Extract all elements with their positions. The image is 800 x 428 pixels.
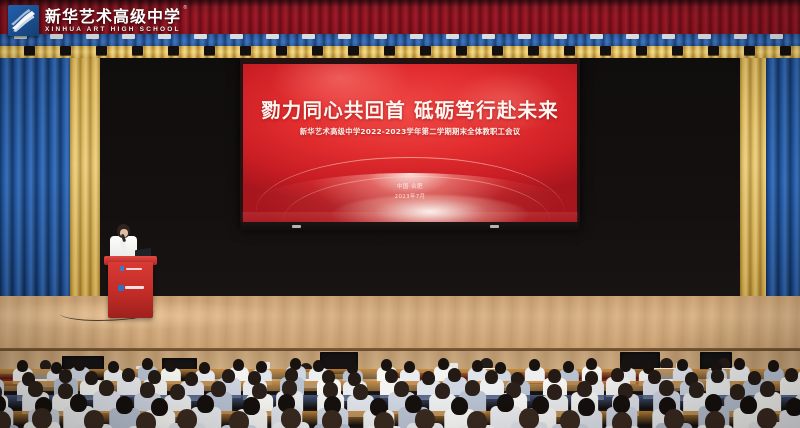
stage-light-fixture — [528, 46, 539, 55]
stage-light-fixture — [672, 46, 683, 55]
audience-member-head — [757, 408, 777, 428]
audience-member-head — [385, 369, 398, 383]
audience-member-head — [547, 384, 562, 400]
audience-member-head — [664, 409, 684, 428]
audience-member-head — [374, 412, 394, 428]
podium-logo-text-upper — [126, 268, 142, 270]
audience-member-head — [529, 359, 540, 371]
valance-light-reflector — [230, 34, 243, 39]
audience-member-head — [108, 361, 119, 373]
valance-light-reflector — [446, 34, 459, 39]
audience-member-head — [415, 409, 435, 428]
audience-member-head — [229, 411, 249, 428]
stage-light-fixture — [204, 46, 215, 55]
valance-light-reflector — [482, 34, 495, 39]
stage-light-fixture — [240, 46, 251, 55]
audience-member-head — [760, 381, 775, 397]
audience-member-head — [785, 368, 798, 382]
valance-light-reflector — [626, 34, 639, 39]
audience-member-head — [435, 383, 450, 399]
watermark-title-en: XINHUA ART HIGH SCHOOL — [45, 25, 181, 34]
valance-light-reflector — [698, 34, 711, 39]
audience-member-head — [151, 398, 168, 416]
audience-member-head — [28, 381, 43, 397]
stage-light-fixture — [384, 46, 395, 55]
audience-member-head — [613, 395, 630, 413]
stage-light-fixture — [492, 46, 503, 55]
audience-member-head — [197, 395, 214, 413]
auditorium-photo: 勠力同心共回首 砥砺笃行赴未来 新华艺术高级中学2022-2023学年第二学期期… — [0, 0, 800, 428]
audience-member-head — [586, 358, 597, 370]
curtain-left-gold — [70, 46, 100, 308]
audience-member-head — [256, 361, 267, 373]
audience-member-head — [32, 408, 52, 428]
audience-member-head — [648, 370, 661, 384]
audience-member-head — [233, 359, 244, 371]
podium-logo-mark-lower — [118, 285, 124, 291]
curtain-right-blue — [766, 46, 800, 314]
valance-light-reflector — [410, 34, 423, 39]
valance-light-reflector — [374, 34, 387, 39]
podium — [108, 262, 153, 318]
audience-member-head — [677, 359, 688, 371]
stage-light-fixture — [636, 46, 647, 55]
audience-member-head — [185, 372, 198, 386]
audience-member-head — [705, 394, 722, 412]
stage-light-fixture — [168, 46, 179, 55]
audience-member-head — [497, 394, 514, 412]
valance-light-reflector — [554, 34, 567, 39]
stage-light-fixture — [564, 46, 575, 55]
audience-member-head — [485, 370, 498, 384]
stage-light-fixture — [780, 46, 791, 55]
stage-light-fixture — [348, 46, 359, 55]
audience-member-head — [448, 368, 461, 382]
stage-light-fixture — [456, 46, 467, 55]
audience-member-head — [438, 358, 449, 370]
audience-member-head — [748, 371, 761, 385]
screen-date: 2023年7月 — [243, 192, 577, 200]
audience-member-head — [177, 409, 197, 428]
valance-light-reflector — [518, 34, 531, 39]
audience-member-head — [122, 368, 135, 382]
podium-logo-upper — [120, 266, 142, 271]
audience-member-head — [116, 396, 133, 414]
audience-member-head — [563, 361, 574, 373]
curtain-left-blue — [0, 46, 78, 311]
audience-member-head — [17, 360, 28, 372]
audience-member-head — [465, 380, 480, 396]
audience-member-head — [394, 381, 409, 397]
audience-member-head — [140, 382, 155, 398]
stage-light-fixture — [60, 46, 71, 55]
audience-member-head — [786, 398, 800, 416]
audience-member-head — [404, 361, 415, 373]
audience-member-head — [222, 369, 235, 383]
audience-member-head — [734, 358, 745, 370]
valance-light-reflector — [770, 34, 783, 39]
audience-member-head — [322, 410, 342, 428]
audience-member-head — [659, 380, 674, 396]
audience-member-head — [85, 371, 98, 385]
audience-member-head — [578, 398, 595, 416]
audience-member-head — [705, 411, 725, 428]
audience-member-head — [768, 360, 779, 372]
screen-headline: 勠力同心共回首 砥砺笃行赴未来 — [243, 94, 577, 123]
audience-member-head — [519, 408, 539, 428]
stage-light-fixture — [24, 46, 35, 55]
valance-light-reflector — [734, 34, 747, 39]
valance-light-reflector — [662, 34, 675, 39]
valance-light-reflector — [302, 34, 315, 39]
audience-member-head — [740, 396, 757, 414]
audience-member-head — [170, 384, 185, 400]
watermark-logo: 新华艺术高级中学 XINHUA ART HIGH SCHOOL ® — [8, 5, 181, 36]
valance-light-reflector — [338, 34, 351, 39]
audience-member-head — [199, 362, 210, 374]
audience-member-head — [548, 369, 561, 383]
stage-light-fixture — [708, 46, 719, 55]
audience-member-head — [353, 384, 368, 400]
audience-member-head — [560, 410, 580, 428]
audience-member-head — [74, 359, 85, 371]
podium-logo-text-lower — [125, 286, 144, 289]
audience-area — [0, 358, 800, 428]
valance-light-reflector — [194, 34, 207, 39]
audience-member-head — [99, 380, 114, 396]
audience-member-head — [711, 369, 724, 383]
screen-marker-left — [292, 225, 301, 228]
stage-light-fixture — [744, 46, 755, 55]
audience-member-head — [577, 381, 592, 397]
audience-member-head — [211, 381, 226, 397]
audience-member-head — [611, 368, 624, 382]
podium-logo-mark-upper — [120, 266, 125, 271]
stage-light-fixture — [312, 46, 323, 55]
valance-light-reflector — [590, 34, 603, 39]
podium-logo-lower — [118, 284, 144, 291]
led-screen: 勠力同心共回首 砥砺笃行赴未来 新华艺术高级中学2022-2023学年第二学期期… — [240, 58, 580, 230]
audience-member-head — [472, 360, 483, 372]
audience-member-head — [281, 408, 301, 428]
stage-light-fixture — [276, 46, 287, 55]
screen-subtitle: 新华艺术高级中学2022-2023学年第二学期期末全体教职工会议 — [243, 126, 577, 137]
audience-member-head — [243, 397, 260, 415]
screen-marker-right — [490, 225, 499, 228]
audience-member-head — [165, 360, 176, 372]
stage-light-row — [0, 34, 800, 56]
audience-member-head — [612, 412, 632, 428]
stage-light-fixture — [420, 46, 431, 55]
audience-member-head — [689, 382, 704, 398]
audience-member-head — [142, 358, 153, 370]
watermark-title-cn: 新华艺术高级中学 — [45, 8, 181, 25]
valance-light-reflector — [266, 34, 279, 39]
audience-member-head — [136, 412, 156, 428]
wave-swoosh-icon — [8, 5, 39, 36]
led-screen-face: 勠力同心共回首 砥砺笃行赴未来 新华艺术高级中学2022-2023学年第二学期期… — [243, 64, 577, 224]
audience-member-head — [467, 411, 487, 428]
audience-member-head — [422, 371, 435, 385]
audience-member-head — [59, 369, 72, 383]
audience-member-head — [70, 394, 87, 412]
stage-light-fixture — [132, 46, 143, 55]
registered-mark-icon: ® — [183, 5, 187, 11]
audience-member-head — [451, 397, 468, 415]
screen-place: 中国·合肥 — [243, 182, 577, 190]
stage-light-fixture — [96, 46, 107, 55]
audience-member-head — [313, 360, 324, 372]
audience-member-head — [58, 383, 73, 399]
audience-member-head — [252, 383, 267, 399]
watermark-text: 新华艺术高级中学 XINHUA ART HIGH SCHOOL ® — [45, 8, 181, 34]
stage-light-fixture — [600, 46, 611, 55]
audience-member-head — [84, 410, 104, 428]
